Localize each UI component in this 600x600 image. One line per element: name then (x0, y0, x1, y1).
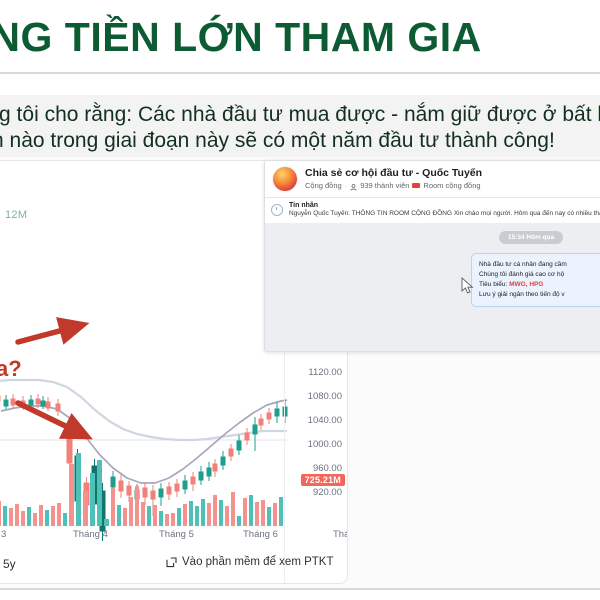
pinned-message[interactable]: Tin nhắn Nguyễn Quốc Tuyến: THÔNG TIN RO… (265, 198, 600, 223)
message-timestamp: 15:34 Hôm qua (499, 231, 563, 244)
red-arrow-upper (18, 325, 82, 342)
chat-meta-members: 939 thành viên (360, 181, 409, 190)
pinned-message-icon (271, 204, 283, 216)
date-tick-4: Thá (333, 529, 348, 540)
bubble-line-3: Tiêu biểu: MWG, HPG (479, 280, 600, 290)
page-bottom-divider (0, 588, 600, 590)
date-axis: 3 Tháng 4 Tháng 5 Tháng 6 Thá (0, 529, 287, 545)
chat-header-text: Chia sẻ cơ hội đầu tư - Quốc Tuyến Cộng … (305, 167, 482, 191)
chat-meta-type: Cộng đồng (305, 181, 342, 190)
subtitle-line-1: húng tôi cho rằng: Các nhà đầu tư mua đư… (0, 103, 600, 127)
bubble-line-3-label: Tiêu biểu: (479, 281, 509, 288)
chart-card-footer: 5y Vào phần mềm để xem PTKT (0, 553, 348, 584)
date-tick-0: 3 (1, 529, 6, 540)
chat-header: Chia sẻ cơ hội đầu tư - Quốc Tuyến Cộng … (265, 161, 600, 197)
slide-title-band: ÒNG TIỀN LỚN THAM GIA (0, 0, 600, 72)
pinned-message-preview: Nguyễn Quốc Tuyến: THÔNG TIN ROOM CỘNG Đ… (289, 210, 600, 218)
pinned-message-label: Tin nhắn (289, 201, 600, 210)
slide-subtitle-band: húng tôi cho rằng: Các nhà đầu tư mua đư… (0, 95, 600, 157)
date-tick-3: Tháng 6 (243, 529, 278, 540)
open-ptkt-link[interactable]: Vào phần mềm để xem PTKT (166, 556, 333, 568)
bubble-line-1: Nhà đầu tư cá nhân đang cầm (479, 260, 600, 270)
chat-message-bubble[interactable]: Nhà đầu tư cá nhân đang cầm Chúng tôi đá… (471, 253, 600, 307)
chat-message-list[interactable]: 15:34 Hôm qua Nhà đầu tư cá nhân đang cầ… (265, 223, 600, 352)
bubble-line-4: Lưu ý giải ngân theo tiến độ v (479, 290, 600, 300)
title-divider (0, 72, 600, 74)
red-question-text: a? (0, 356, 22, 382)
ticker-symbols: MWG, HPG (509, 281, 543, 288)
chat-screenshot-panel[interactable]: Chia sẻ cơ hội đầu tư - Quốc Tuyến Cộng … (264, 160, 600, 352)
chat-group-meta: Cộng đồng · 939 thành viên Room cộng đồn… (305, 181, 482, 190)
subtitle-line-2: hiên nào trong giai đoạn này sẽ có một n… (0, 129, 555, 153)
external-link-icon (166, 557, 177, 568)
volume-value-badge: 725.21M (301, 474, 345, 486)
chat-meta-sep-1: · (345, 181, 348, 190)
range-selector-5y[interactable]: 5y (3, 557, 16, 571)
members-icon (350, 184, 357, 191)
date-tick-1: Tháng 4 (73, 529, 108, 540)
chat-meta-room: Room cộng đồng (423, 181, 480, 190)
page-title: ÒNG TIỀN LỚN THAM GIA (0, 14, 482, 61)
chat-group-title: Chia sẻ cơ hội đầu tư - Quốc Tuyến (305, 167, 482, 180)
open-ptkt-label: Vào phần mềm để xem PTKT (182, 556, 333, 568)
price-tick-5: 960.00 (313, 463, 342, 474)
bubble-line-2: Chúng tôi đánh giá cao cơ hộ (479, 270, 600, 280)
red-arrow-lower (18, 403, 86, 436)
room-badge-icon (412, 183, 420, 188)
price-tick-6: 920.00 (313, 487, 342, 498)
pinned-message-body: Tin nhắn Nguyễn Quốc Tuyến: THÔNG TIN RO… (289, 201, 600, 219)
date-tick-2: Tháng 5 (159, 529, 194, 540)
group-avatar-icon (273, 167, 297, 191)
